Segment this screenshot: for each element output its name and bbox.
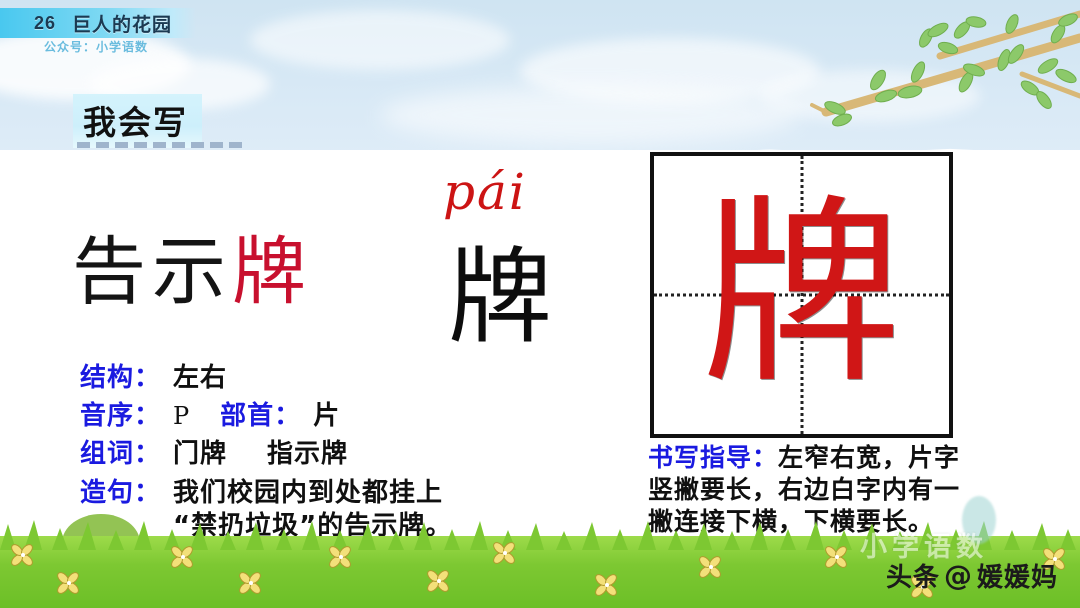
initial-label: 音序： bbox=[80, 400, 161, 432]
word-term-2: 指示牌 bbox=[267, 438, 348, 470]
flower-decoration bbox=[172, 546, 194, 568]
guidance-line-1: 书写指导：左窄右宽，片字 bbox=[648, 442, 1080, 474]
guidance-line-2: 竖撇要长，右边白字内有一 bbox=[648, 474, 1080, 506]
sentence-line-1: 我们校园内到处都挂上 bbox=[173, 477, 452, 510]
flower-decoration bbox=[12, 544, 34, 566]
character-glyph: 牌 bbox=[448, 245, 552, 349]
character-practice-grid: 牌 bbox=[650, 152, 953, 438]
cloud-shape bbox=[380, 86, 800, 144]
initial-value: P bbox=[173, 402, 190, 432]
section-heading-wrap: 我会写 bbox=[73, 94, 202, 148]
flower-decoration bbox=[240, 572, 262, 594]
guidance-label: 书写指导： bbox=[648, 443, 778, 472]
tree-branch-decoration bbox=[790, 0, 1080, 140]
words-label: 组词： bbox=[80, 438, 161, 470]
info-row-words: 组词： 门牌 指示牌 bbox=[80, 438, 600, 470]
guidance-text-1: 左窄右宽，片字 bbox=[778, 443, 960, 472]
flower-decoration bbox=[596, 574, 618, 596]
section-heading: 我会写 bbox=[73, 94, 202, 148]
structure-value: 左右 bbox=[173, 362, 227, 394]
heading-dashed-underline bbox=[77, 142, 242, 148]
flower-decoration bbox=[330, 546, 352, 568]
lesson-number: 26 bbox=[34, 13, 56, 34]
info-row-initial-radical: 音序： P 部首： 片 bbox=[80, 400, 600, 432]
word-highlight-char: 牌 bbox=[232, 229, 312, 315]
at-symbol-icon: @ bbox=[944, 559, 973, 592]
word-term-1: 门牌 bbox=[173, 438, 227, 470]
page-title: 26 巨人的花园 bbox=[34, 10, 172, 36]
structure-label: 结构： bbox=[80, 362, 161, 394]
watermark-platform: 头条 bbox=[886, 557, 940, 594]
flower-decoration bbox=[428, 570, 450, 592]
word-prefix: 告示 bbox=[72, 229, 232, 315]
lesson-title: 巨人的花园 bbox=[72, 10, 172, 37]
flower-decoration bbox=[494, 542, 516, 564]
radical-value: 片 bbox=[313, 400, 340, 432]
info-row-structure: 结构： 左右 bbox=[80, 362, 600, 394]
flower-decoration bbox=[700, 556, 722, 578]
watermark-author: 媛媛妈 bbox=[977, 557, 1058, 594]
top-watermark: 公众号：小学语数 bbox=[44, 38, 148, 55]
radical-label: 部首： bbox=[220, 400, 301, 432]
sentence-label: 造句： bbox=[80, 477, 161, 509]
flower-decoration bbox=[58, 572, 80, 594]
flower-decoration bbox=[826, 546, 848, 568]
pinyin-text: pái bbox=[443, 163, 527, 221]
cloud-shape bbox=[250, 10, 510, 70]
bottom-watermark: 头条 @ 媛媛妈 bbox=[886, 557, 1058, 594]
example-word: 告示牌 bbox=[72, 212, 312, 319]
grid-character-glyph: 牌 bbox=[654, 195, 949, 395]
